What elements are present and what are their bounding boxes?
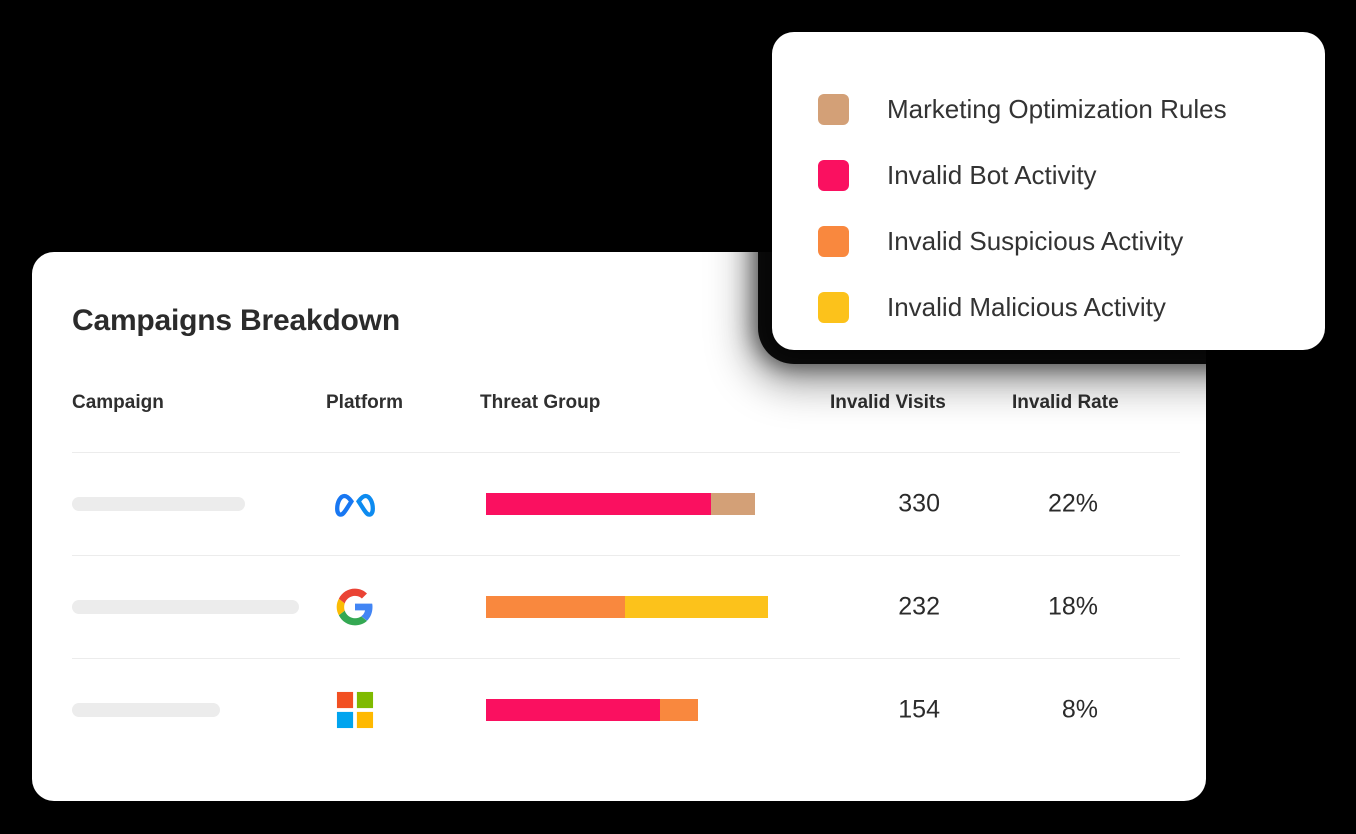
legend-item-marketing-optimization-rules[interactable]: Marketing Optimization Rules — [818, 76, 1305, 142]
meta-logo-icon — [326, 482, 384, 526]
legend-item-label: Invalid Bot Activity — [887, 160, 1097, 191]
campaign-name-redacted — [72, 703, 220, 717]
campaign-name-redacted — [72, 600, 299, 614]
column-header-threat-group: Threat Group — [480, 392, 600, 414]
screenshot-stage: Campaigns Breakdown Campaign Platform Th… — [0, 0, 1356, 834]
threat-group-bar — [486, 699, 698, 721]
threat-group-bar-segment — [660, 699, 698, 721]
threat-group-bar-segment — [486, 699, 660, 721]
microsoft-logo-icon — [336, 691, 374, 729]
threat-group-bar-segment — [486, 596, 625, 618]
threat-group-bar-segment — [711, 493, 755, 515]
legend-item-label: Marketing Optimization Rules — [887, 94, 1227, 125]
invalid-visits-value: 232 — [830, 593, 940, 622]
column-header-invalid-visits: Invalid Visits — [830, 392, 946, 414]
campaigns-table: Campaign Platform Threat Group Invalid V… — [72, 392, 1180, 761]
invalid-visits-value: 330 — [830, 490, 940, 519]
legend-color-swatch-icon — [818, 94, 849, 125]
table-row[interactable]: 23218% — [72, 556, 1180, 658]
table-row[interactable]: 1548% — [72, 659, 1180, 761]
legend-item-invalid-suspicious-activity[interactable]: Invalid Suspicious Activity — [818, 208, 1305, 274]
legend-item-label: Invalid Suspicious Activity — [887, 226, 1183, 257]
invalid-rate-value: 18% — [1010, 593, 1098, 622]
microsoft-logo-icon — [326, 688, 384, 732]
table-row[interactable]: 33022% — [72, 453, 1180, 555]
legend-item-invalid-bot-activity[interactable]: Invalid Bot Activity — [818, 142, 1305, 208]
google-logo-icon — [335, 587, 375, 627]
table-body: 33022%23218%1548% — [72, 452, 1180, 761]
threat-group-bar-segment — [625, 596, 768, 618]
google-logo-icon — [326, 585, 384, 629]
threat-group-legend-card: Marketing Optimization RulesInvalid Bot … — [772, 32, 1325, 350]
threat-group-bar — [486, 493, 755, 515]
invalid-rate-value: 22% — [1010, 490, 1098, 519]
legend-color-swatch-icon — [818, 226, 849, 257]
table-header-row: Campaign Platform Threat Group Invalid V… — [72, 392, 1180, 452]
legend-item-label: Invalid Malicious Activity — [887, 292, 1166, 323]
meta-logo-icon — [332, 488, 378, 520]
invalid-visits-value: 154 — [830, 696, 940, 725]
campaign-name-redacted — [72, 497, 245, 511]
invalid-rate-value: 8% — [1010, 696, 1098, 725]
threat-group-bar-segment — [486, 493, 711, 515]
page-title: Campaigns Breakdown — [72, 304, 400, 338]
legend-list: Marketing Optimization RulesInvalid Bot … — [818, 76, 1305, 340]
legend-item-invalid-malicious-activity[interactable]: Invalid Malicious Activity — [818, 274, 1305, 340]
column-header-campaign: Campaign — [72, 392, 164, 414]
column-header-platform: Platform — [326, 392, 403, 414]
legend-color-swatch-icon — [818, 292, 849, 323]
column-header-invalid-rate: Invalid Rate — [1012, 392, 1119, 414]
threat-group-bar — [486, 596, 768, 618]
legend-color-swatch-icon — [818, 160, 849, 191]
